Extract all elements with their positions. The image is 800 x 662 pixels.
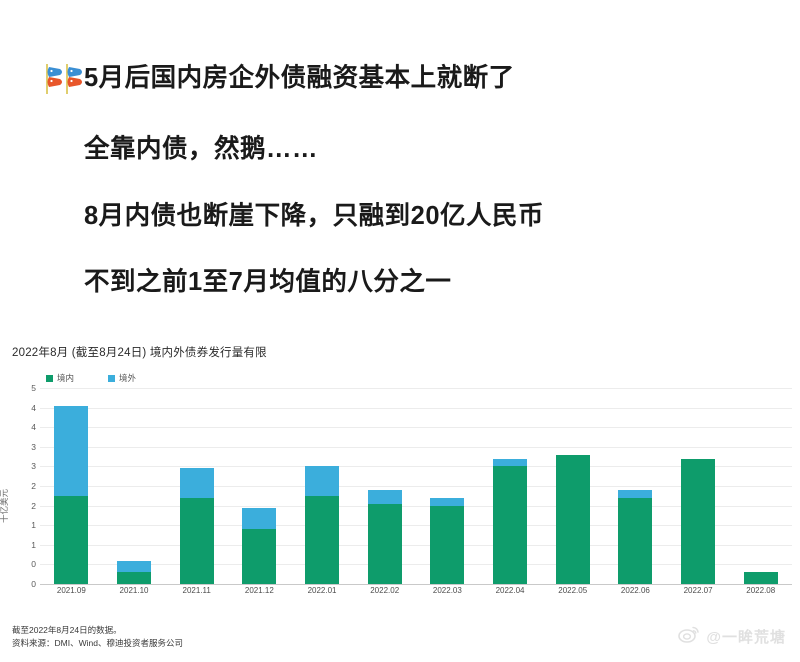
x-tick-label: 2022.04 [479, 586, 542, 595]
bar-segment-offshore [430, 498, 464, 506]
stacked-bar[interactable] [117, 561, 151, 585]
footnote-data-date: 截至2022年8月24日的数据。 [12, 624, 183, 637]
bar-segment-domestic [618, 498, 652, 584]
bar-segment-domestic [430, 506, 464, 584]
y-tick-label: 3 [14, 461, 36, 471]
weibo-watermark: @一眸荒塘 [678, 625, 786, 648]
bar-slot[interactable] [729, 388, 792, 584]
bar-segment-domestic [117, 572, 151, 584]
chart-footnotes: 截至2022年8月24日的数据。 资料来源：DMI、Wind、穆迪投资者服务公司 [12, 624, 183, 650]
y-tick-label: 4 [14, 403, 36, 413]
stacked-bar[interactable] [54, 406, 88, 584]
stacked-bar[interactable] [556, 455, 590, 584]
bar-slot[interactable] [291, 388, 354, 584]
chart-title: 2022年8月 (截至8月24日) 境内外债券发行量有限 [12, 344, 800, 360]
bar-segment-domestic [54, 496, 88, 584]
plot-canvas [40, 388, 792, 585]
footnote-source: 资料来源：DMI、Wind、穆迪投资者服务公司 [12, 637, 183, 650]
bar-segment-domestic [744, 572, 778, 584]
bar-segment-domestic [368, 504, 402, 584]
legend-label-offshore: 境外 [119, 372, 136, 384]
bar-group [40, 388, 792, 584]
x-tick-label: 2022.05 [541, 586, 604, 595]
legend-item-domestic: 境内 [46, 372, 74, 384]
y-tick-label: 1 [14, 520, 36, 530]
y-tick-label: 2 [14, 481, 36, 491]
x-axis-labels: 2021.092021.102021.112021.122022.012022.… [40, 586, 792, 595]
x-tick-label: 2022.03 [416, 586, 479, 595]
y-axis-ticks: 54433221100 [14, 388, 36, 584]
legend-item-offshore: 境外 [108, 372, 136, 384]
bar-slot[interactable] [103, 388, 166, 584]
y-tick-label: 0 [14, 559, 36, 569]
bar-segment-offshore [180, 468, 214, 497]
bar-segment-offshore [305, 466, 339, 495]
post-line-2: 全靠内债，然鹅…… [84, 137, 800, 163]
y-axis-label: 十亿美元 [0, 489, 10, 523]
post-line-1: 5月后国内房企外债融资基本上就断了 [44, 62, 800, 96]
bar-segment-offshore [242, 508, 276, 530]
bar-segment-domestic [493, 466, 527, 584]
chart-legend: 境内 境外 [46, 372, 800, 384]
x-tick-label: 2022.08 [729, 586, 792, 595]
stacked-bar[interactable] [681, 459, 715, 584]
post-line-3: 8月内债也断崖下降，只融到20亿人民币 [84, 204, 800, 230]
x-tick-label: 2022.07 [667, 586, 730, 595]
bar-segment-offshore [618, 490, 652, 498]
bar-segment-offshore [368, 490, 402, 504]
bar-segment-offshore [54, 406, 88, 496]
bar-slot[interactable] [353, 388, 416, 584]
bar-segment-domestic [180, 498, 214, 584]
bar-slot[interactable] [479, 388, 542, 584]
x-tick-label: 2021.12 [228, 586, 291, 595]
bar-slot[interactable] [165, 388, 228, 584]
legend-swatch-domestic [46, 375, 53, 382]
post-line-1-text: 5月后国内房企外债融资基本上就断了 [84, 66, 515, 92]
bar-segment-domestic [242, 529, 276, 584]
koinobori-carp-streamer-icon [44, 62, 84, 96]
legend-swatch-offshore [108, 375, 115, 382]
weibo-logo-icon [678, 625, 700, 648]
y-tick-label: 3 [14, 442, 36, 452]
stacked-bar[interactable] [180, 468, 214, 584]
bar-slot[interactable] [40, 388, 103, 584]
post-line-3-text: 8月内债也断崖下降，只融到20亿人民币 [84, 204, 544, 230]
y-tick-label: 0 [14, 579, 36, 589]
weibo-post-text: 5月后国内房企外债融资基本上就断了 全靠内债，然鹅…… 8月内债也断崖下降，只融… [0, 0, 800, 296]
stacked-bar[interactable] [242, 508, 276, 584]
bar-segment-domestic [556, 455, 590, 584]
x-tick-label: 2021.10 [103, 586, 166, 595]
x-tick-label: 2022.01 [291, 586, 354, 595]
bar-segment-offshore [117, 561, 151, 573]
bar-slot[interactable] [416, 388, 479, 584]
post-line-4-text: 不到之前1至7月均值的八分之一 [84, 270, 451, 296]
x-tick-label: 2021.11 [165, 586, 228, 595]
stacked-bar[interactable] [618, 490, 652, 584]
bar-segment-offshore [493, 459, 527, 467]
bar-slot[interactable] [228, 388, 291, 584]
bond-issuance-chart: 2022年8月 (截至8月24日) 境内外债券发行量有限 境内 境外 十亿美元 … [0, 338, 800, 662]
x-tick-label: 2022.06 [604, 586, 667, 595]
stacked-bar[interactable] [430, 498, 464, 584]
x-tick-label: 2021.09 [40, 586, 103, 595]
weibo-handle: @一眸荒塘 [706, 626, 786, 647]
post-line-4: 不到之前1至7月均值的八分之一 [84, 270, 800, 296]
bar-segment-domestic [305, 496, 339, 584]
plot-area: 十亿美元 54433221100 2021.092021.102021.1120… [0, 388, 800, 610]
bar-slot[interactable] [541, 388, 604, 584]
stacked-bar[interactable] [493, 459, 527, 584]
x-tick-label: 2022.02 [353, 586, 416, 595]
legend-label-domestic: 境内 [57, 372, 74, 384]
bar-slot[interactable] [604, 388, 667, 584]
y-tick-label: 2 [14, 501, 36, 511]
y-tick-label: 1 [14, 540, 36, 550]
y-tick-label: 4 [14, 422, 36, 432]
bar-slot[interactable] [667, 388, 730, 584]
stacked-bar[interactable] [305, 466, 339, 584]
stacked-bar[interactable] [744, 572, 778, 584]
bar-segment-domestic [681, 459, 715, 584]
post-line-2-text: 全靠内债，然鹅…… [84, 137, 318, 163]
y-tick-label: 5 [14, 383, 36, 393]
stacked-bar[interactable] [368, 490, 402, 584]
